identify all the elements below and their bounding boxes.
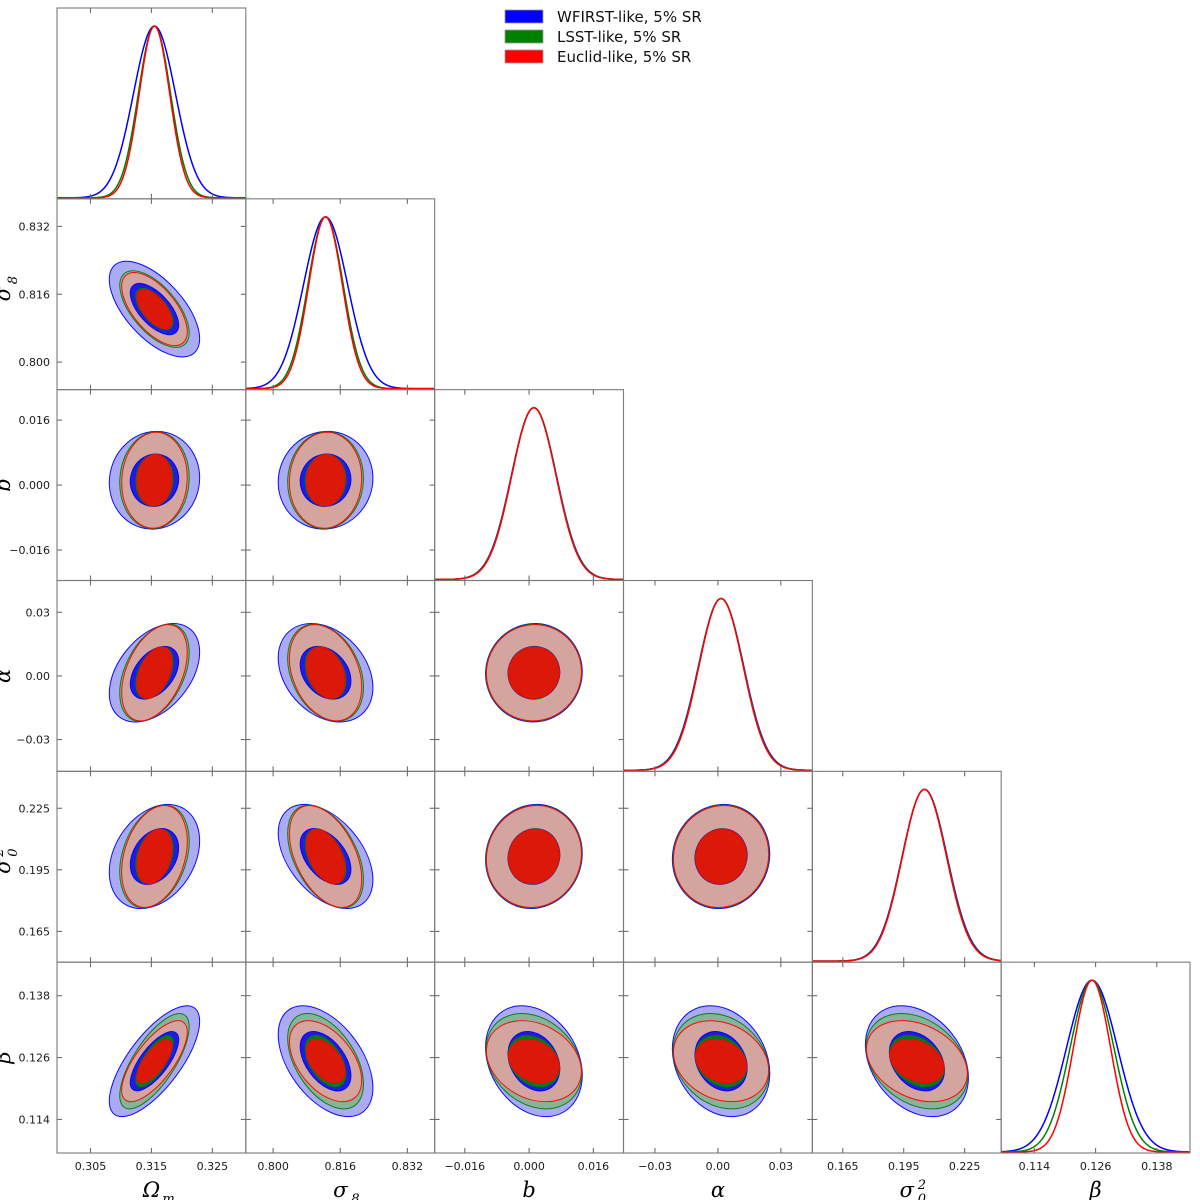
- panel-frame: [1001, 962, 1190, 1153]
- panel-sigma_0_sq-vs-alpha: [624, 771, 813, 962]
- y-tick-label: 0.225: [19, 802, 51, 815]
- panel-content: [471, 791, 596, 922]
- panel-content: [812, 789, 1001, 961]
- x-axis-title-alpha: α: [711, 1178, 725, 1200]
- y-tick-label: 0.816: [19, 288, 51, 301]
- legend-swatch-lsst: [505, 30, 543, 43]
- panel-diagonal-beta: [1001, 962, 1190, 1153]
- panel-diagonal-sigma_0_sq: [812, 771, 1001, 962]
- axis-title-main: σ: [0, 859, 15, 874]
- panel-content: [466, 988, 602, 1134]
- y-axis-title-alpha: α: [0, 669, 15, 683]
- panel-alpha-vs-sigma_8: [246, 581, 435, 772]
- axis-title-subscript: 0: [918, 1192, 926, 1200]
- panel-beta-vs-sigma_0_sq: [812, 962, 1001, 1153]
- panel-content: [91, 788, 219, 926]
- panel-sigma_8-vs-Omega_m: [57, 199, 246, 390]
- y-tick-label: −0.03: [16, 734, 50, 747]
- axis-title-main: b: [522, 1178, 535, 1200]
- density-curve-lsst: [57, 26, 246, 198]
- density-curve-lsst: [624, 599, 813, 771]
- panel-diagonal-alpha: [624, 581, 813, 772]
- x-tick-label: 0.305: [75, 1160, 107, 1173]
- panel-content: [844, 986, 990, 1137]
- panel-alpha-vs-b: [435, 581, 624, 772]
- y-tick-label: 0.126: [19, 1052, 51, 1065]
- panel-diagonal-sigma_8: [246, 199, 435, 390]
- x-axis-title-b: b: [522, 1178, 535, 1200]
- density-curve-euclid: [1001, 980, 1190, 1152]
- y-tick-label: 0.138: [19, 990, 51, 1003]
- x-tick-label: 0.000: [513, 1160, 545, 1173]
- x-tick-label: 0.138: [1141, 1160, 1173, 1173]
- panel-content: [94, 992, 216, 1130]
- x-tick-label: 0.325: [197, 1160, 229, 1173]
- axis-title-main: β: [1089, 1178, 1102, 1200]
- x-tick-label: 0.00: [706, 1160, 731, 1173]
- panel-content: [91, 606, 218, 739]
- corner-plot-canvas: 0.3050.3150.325Ωm0.8000.8160.832σ8−0.016…: [0, 0, 1200, 1200]
- density-curve-wfirst: [435, 408, 624, 580]
- panel-content: [659, 791, 784, 921]
- panel-diagonal-b: [435, 390, 624, 581]
- panel-alpha-vs-Omega_m: [57, 581, 246, 772]
- density-curve-wfirst: [1001, 980, 1190, 1152]
- axis-title-main: α: [0, 669, 15, 683]
- panel-content: [259, 989, 392, 1134]
- panel-beta-vs-alpha: [624, 962, 813, 1153]
- axis-title-main: Ω: [142, 1178, 160, 1200]
- y-tick-label: 0.195: [19, 864, 51, 877]
- x-tick-label: 0.016: [578, 1160, 610, 1173]
- panel-sigma_0_sq-vs-b: [435, 771, 624, 962]
- density-curve-wfirst: [624, 599, 813, 771]
- density-curve-wfirst: [812, 789, 1001, 961]
- x-axis-title-Omega_m: Ωm: [142, 1178, 175, 1200]
- y-tick-label: 0.000: [19, 479, 51, 492]
- panel-content: [469, 607, 600, 739]
- legend: WFIRST-like, 5% SRLSST-like, 5% SREuclid…: [505, 8, 702, 66]
- density-curve-euclid: [624, 599, 813, 771]
- legend-label-wfirst: WFIRST-like, 5% SR: [557, 8, 702, 26]
- panel-b-vs-Omega_m: [57, 390, 246, 581]
- panel-content: [98, 420, 212, 540]
- x-tick-label: 0.800: [257, 1160, 289, 1173]
- x-tick-label: 0.832: [392, 1160, 424, 1173]
- legend-swatch-wfirst: [505, 10, 543, 23]
- x-tick-label: 0.114: [1019, 1160, 1051, 1173]
- density-curve-euclid: [57, 26, 246, 198]
- panel-content: [246, 217, 435, 389]
- x-tick-label: 0.816: [325, 1160, 357, 1173]
- x-tick-label: 0.315: [136, 1160, 168, 1173]
- panel-content: [262, 415, 389, 545]
- x-axis-title-sigma_0_sq: σ02: [900, 1178, 926, 1200]
- axis-title-superscript: 2: [917, 1178, 926, 1193]
- panel-frame: [812, 771, 1001, 962]
- axis-title-main: σ: [900, 1178, 915, 1200]
- panel-frame: [624, 581, 813, 772]
- x-tick-label: 0.165: [827, 1160, 859, 1173]
- panel-frame: [246, 199, 435, 390]
- x-tick-label: 0.03: [769, 1160, 794, 1173]
- x-tick-label: 0.225: [949, 1160, 981, 1173]
- x-tick-label: −0.03: [638, 1160, 672, 1173]
- axis-title-subscript: m: [162, 1192, 174, 1200]
- density-curve-wfirst: [246, 217, 435, 389]
- axis-title-main: α: [711, 1178, 725, 1200]
- x-tick-label: 0.195: [888, 1160, 920, 1173]
- panel-grid: [57, 8, 1190, 1153]
- y-tick-label: 0.800: [19, 356, 51, 369]
- panel-frame: [57, 8, 246, 199]
- panel-beta-vs-sigma_8: [246, 962, 435, 1153]
- panel-content: [259, 787, 392, 926]
- panel-content: [653, 988, 789, 1134]
- density-curve-lsst: [246, 217, 435, 389]
- panel-content: [259, 605, 392, 741]
- panel-sigma_0_sq-vs-sigma_8: [246, 771, 435, 962]
- corner-plot-figure: 0.3050.3150.325Ωm0.8000.8160.832σ8−0.016…: [0, 0, 1200, 1200]
- axis-title-main: σ: [0, 286, 15, 301]
- density-curve-lsst: [435, 408, 624, 580]
- panel-frame: [435, 390, 624, 581]
- panel-b-vs-sigma_8: [246, 390, 435, 581]
- y-tick-label: 0.165: [19, 925, 51, 938]
- density-curve-euclid: [812, 789, 1001, 961]
- panel-content: [624, 599, 813, 771]
- density-curve-lsst: [812, 789, 1001, 961]
- axis-title-superscript: 2: [0, 848, 7, 857]
- y-axis-title-beta: β: [0, 1052, 15, 1065]
- axis-title-main: b: [0, 478, 15, 491]
- panel-diagonal-Omega_m: [57, 8, 246, 199]
- panel-sigma_0_sq-vs-Omega_m: [57, 771, 246, 962]
- panel-content: [57, 26, 246, 198]
- density-curve-euclid: [435, 408, 624, 580]
- panel-content: [435, 408, 624, 580]
- axis-title-subscript: 8: [6, 276, 21, 284]
- y-tick-label: 0.832: [19, 220, 51, 233]
- axis-title-main: σ: [333, 1178, 348, 1200]
- x-axis-title-sigma_8: σ8: [333, 1178, 359, 1200]
- axis-title-subscript: 8: [351, 1192, 359, 1200]
- density-curve-euclid: [246, 217, 435, 389]
- x-tick-label: 0.126: [1080, 1160, 1112, 1173]
- axis-title-main: β: [0, 1052, 15, 1065]
- panel-beta-vs-b: [435, 962, 624, 1153]
- density-curve-lsst: [1001, 980, 1190, 1152]
- legend-label-euclid: Euclid-like, 5% SR: [557, 48, 691, 66]
- y-tick-label: 0.016: [19, 414, 51, 427]
- axis-title-subscript: 0: [6, 848, 21, 856]
- y-axis-title-b: b: [0, 478, 15, 491]
- legend-label-lsst: LSST-like, 5% SR: [557, 28, 681, 46]
- density-curve-wfirst: [57, 26, 246, 198]
- x-axis-title-beta: β: [1089, 1178, 1102, 1200]
- y-tick-label: −0.016: [9, 544, 50, 557]
- y-tick-label: 0.114: [19, 1113, 51, 1126]
- legend-swatch-euclid: [505, 50, 543, 63]
- y-tick-label: 0.00: [26, 670, 51, 683]
- x-tick-label: −0.016: [444, 1160, 485, 1173]
- panel-beta-vs-Omega_m: [57, 962, 246, 1153]
- panel-content: [1001, 980, 1190, 1152]
- panel-content: [93, 246, 215, 372]
- y-tick-label: 0.03: [26, 606, 51, 619]
